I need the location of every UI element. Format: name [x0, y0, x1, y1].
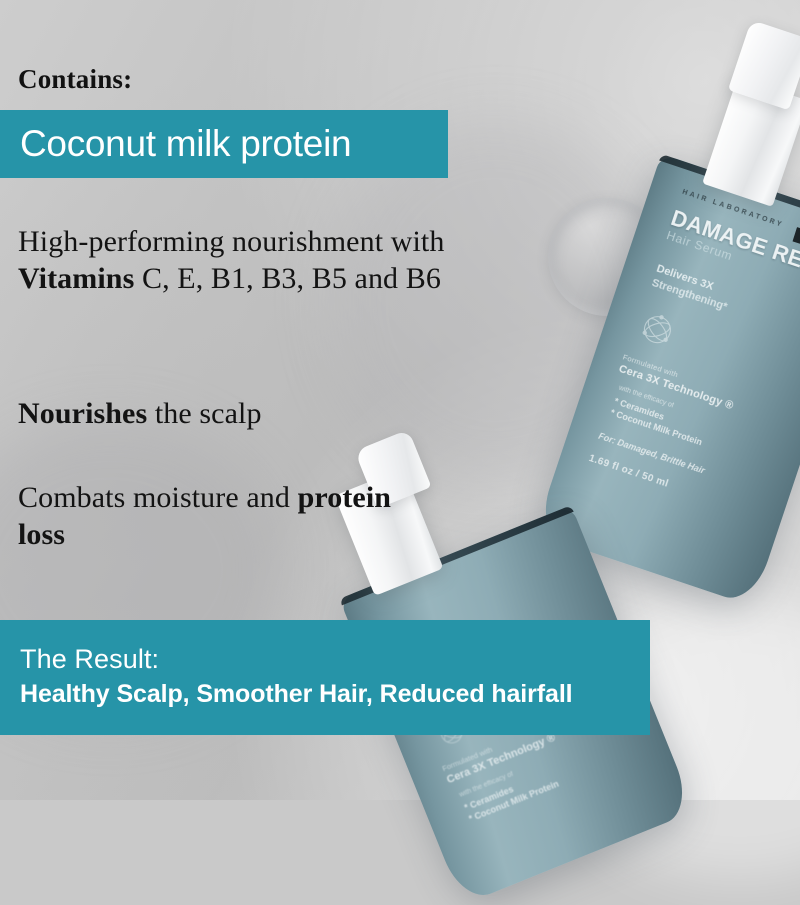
emphasis-text: Vitamins — [18, 262, 134, 295]
emphasis-text: Nourishes — [18, 397, 147, 430]
result-outcomes: Healthy Scalp, Smoother Hair, Reduced ha… — [20, 679, 650, 709]
benefit-protein: Combats moisture and protein loss — [18, 480, 418, 553]
body-text: High-performing nourishment with — [18, 225, 444, 258]
body-text: Combats moisture and — [18, 481, 298, 514]
benefit-scalp: Nourishes the scalp — [18, 396, 448, 433]
hero-ingredient-band: Coconut milk protein — [0, 110, 448, 178]
result-title: The Result: — [20, 644, 650, 676]
benefit-vitamins: High-performing nourishment with Vitamin… — [18, 224, 488, 297]
result-band: The Result: Healthy Scalp, Smoother Hair… — [0, 620, 650, 735]
contains-label: Contains: — [18, 64, 132, 95]
hero-ingredient-text: Coconut milk protein — [0, 123, 351, 165]
body-text: C, E, B1, B3, B5 and B6 — [134, 262, 441, 295]
body-text: the scalp — [147, 397, 261, 430]
